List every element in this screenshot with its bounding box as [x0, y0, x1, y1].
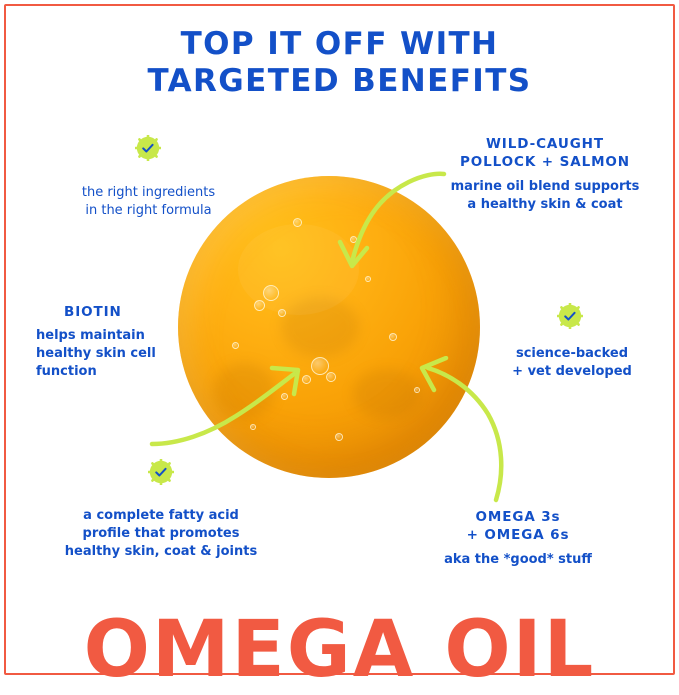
headline-line-1: TOP IT OFF WITH: [181, 26, 499, 62]
check-badge-icon: [135, 135, 161, 161]
page-title: TOP IT OFF WITH TARGETED BENEFITS: [0, 26, 679, 100]
headline-line-2: TARGETED BENEFITS: [0, 63, 679, 100]
benefit-right-ingredients: the right ingredients in the right formu…: [40, 184, 257, 220]
benefit-body: science-backed + vet developed: [492, 345, 652, 381]
oil-circle: [178, 176, 480, 478]
infographic-page: TOP IT OFF WITH TARGETED BENEFITS: [0, 0, 679, 679]
benefit-fatty-acid: a complete fatty acid profile that promo…: [30, 507, 292, 561]
benefit-body: aka the *good* stuff: [406, 551, 630, 569]
benefit-body: the right ingredients in the right formu…: [40, 184, 257, 220]
benefit-title: OMEGA 3s + OMEGA 6s: [406, 508, 630, 544]
benefit-omegas: OMEGA 3s + OMEGA 6s aka the *good* stuff: [406, 508, 630, 569]
benefit-wild-caught: WILD-CAUGHT POLLOCK + SALMON marine oil …: [420, 135, 670, 214]
check-badge-icon: [148, 459, 174, 485]
omega-oil-droplet-image: [178, 176, 480, 478]
check-badge-icon: [557, 303, 583, 329]
benefit-body: a complete fatty acid profile that promo…: [30, 507, 292, 561]
benefit-title: BIOTIN: [36, 303, 186, 321]
product-wordmark: OMEGA OIL: [0, 608, 679, 692]
benefit-body: marine oil blend supports a healthy skin…: [420, 178, 670, 214]
benefit-biotin: BIOTIN helps maintain healthy skin cell …: [36, 303, 186, 381]
benefit-body: helps maintain healthy skin cell functio…: [36, 327, 186, 381]
benefit-title: WILD-CAUGHT POLLOCK + SALMON: [420, 135, 670, 171]
benefit-science-backed: science-backed + vet developed: [492, 345, 652, 381]
